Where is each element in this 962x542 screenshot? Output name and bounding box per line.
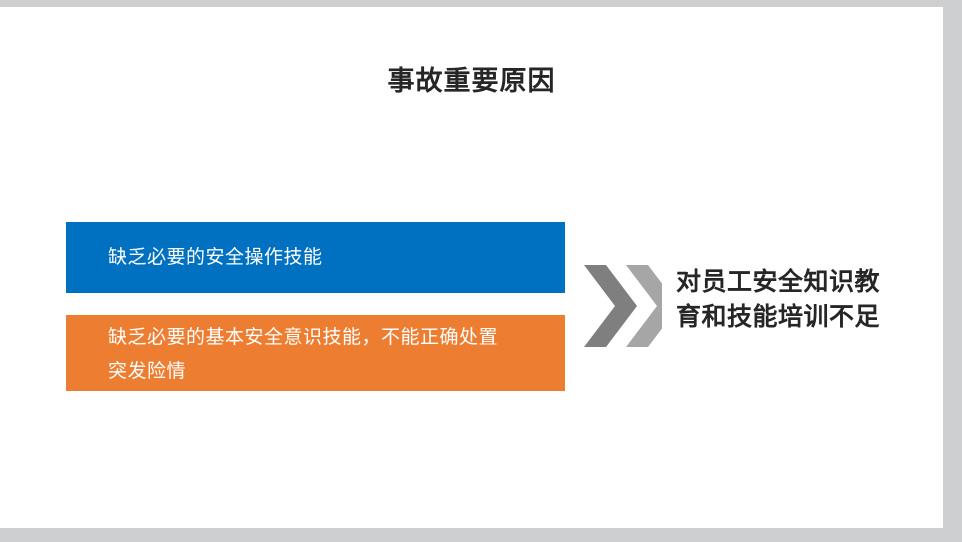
slide-viewer: 事故重要原因 缺乏必要的安全操作技能 缺乏必要的基本安全意识技能，不能正确处置 … <box>0 0 962 542</box>
cause-box-secondary-line-1: 缺乏必要的基本安全意识技能，不能正确处置 <box>108 321 543 355</box>
double-chevron-right-icon <box>580 263 662 349</box>
slide-canvas: 事故重要原因 缺乏必要的安全操作技能 缺乏必要的基本安全意识技能，不能正确处置 … <box>0 7 943 528</box>
conclusion-text: 对员工安全知识教 育和技能培训不足 <box>676 265 896 335</box>
cause-box-primary-line-1: 缺乏必要的安全操作技能 <box>108 241 543 275</box>
conclusion-line-1: 对员工安全知识教 <box>676 265 896 300</box>
cause-box-primary: 缺乏必要的安全操作技能 <box>66 222 565 293</box>
conclusion-line-2: 育和技能培训不足 <box>676 300 896 335</box>
cause-box-secondary-line-2: 突发险情 <box>108 355 543 389</box>
page-title: 事故重要原因 <box>0 65 943 97</box>
cause-box-secondary: 缺乏必要的基本安全意识技能，不能正确处置 突发险情 <box>66 315 565 391</box>
